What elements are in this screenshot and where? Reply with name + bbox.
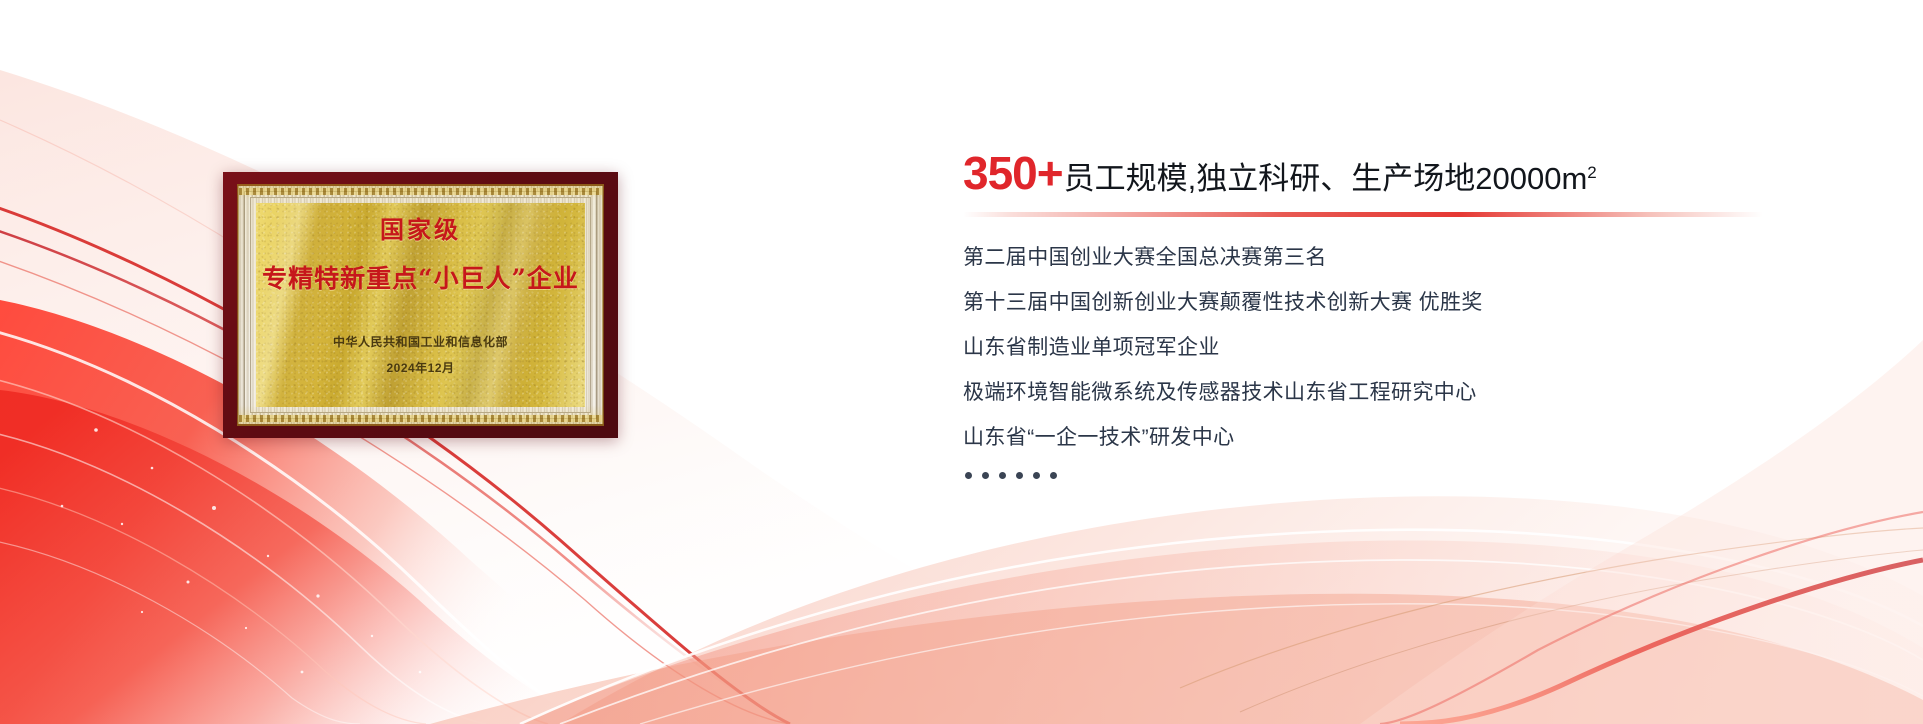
plaque-date: 2024年12月	[386, 359, 454, 376]
list-item: 极端环境智能微系统及传感器技术山东省工程研究中心	[963, 382, 1863, 403]
headline-superscript: 2	[1587, 163, 1596, 183]
plaque-title-line1: 国家级	[380, 216, 461, 245]
dot-icon	[1016, 472, 1023, 479]
dot-icon	[1050, 472, 1057, 479]
plaque-title-line2: 专精特新重点“小巨人”企业	[262, 259, 579, 295]
list-item: 山东省“一企一技术”研发中心	[963, 427, 1863, 448]
dot-icon	[1033, 472, 1040, 479]
plaque-reflection	[223, 440, 618, 610]
list-item: 山东省制造业单项冠军企业	[963, 337, 1863, 358]
plaque-issuer: 中华人民共和国工业和信息化部	[333, 333, 508, 350]
plaque-frame: 国家级 专精特新重点“小巨人”企业 中华人民共和国工业和信息化部 2024年12…	[223, 172, 618, 438]
dot-icon	[982, 472, 989, 479]
content-column: 350+ 员工规模,独立科研、生产场地20000m 2 第二届中国创业大赛全国总…	[963, 150, 1863, 479]
more-indicator-dots	[965, 472, 1863, 479]
list-item: 第二届中国创业大赛全国总决赛第三名	[963, 247, 1863, 268]
list-item: 第十三届中国创新创业大赛颠覆性技术创新大赛 优胜奖	[963, 292, 1863, 313]
headline-text: 员工规模,独立科研、生产场地20000m	[1064, 163, 1588, 194]
headline-underline	[963, 212, 1763, 217]
headline: 350+ 员工规模,独立科研、生产场地20000m 2	[963, 150, 1863, 196]
promo-banner: 国家级 专精特新重点“小巨人”企业 中华人民共和国工业和信息化部 2024年12…	[0, 0, 1923, 724]
awards-list: 第二届中国创业大赛全国总决赛第三名 第十三届中国创新创业大赛颠覆性技术创新大赛 …	[963, 247, 1863, 448]
dot-icon	[999, 472, 1006, 479]
plaque-text-block: 国家级 专精特新重点“小巨人”企业 中华人民共和国工业和信息化部 2024年12…	[223, 172, 618, 438]
award-plaque: 国家级 专精特新重点“小巨人”企业 中华人民共和国工业和信息化部 2024年12…	[223, 172, 618, 438]
dot-icon	[965, 472, 972, 479]
headline-number: 350+	[963, 150, 1063, 196]
